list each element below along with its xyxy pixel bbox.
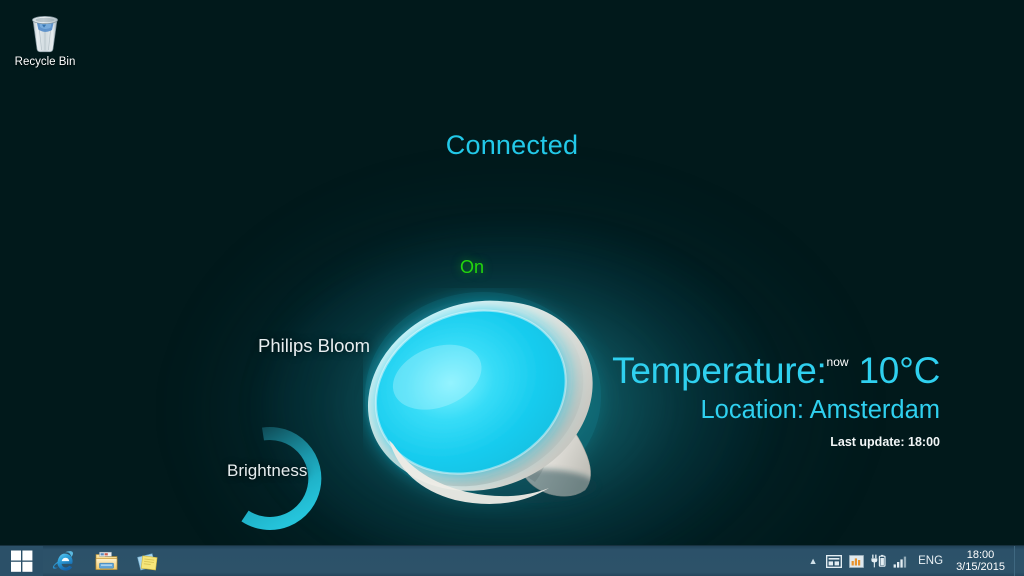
network-signal-glyph-icon xyxy=(893,555,908,568)
file-explorer-icon xyxy=(94,550,119,573)
language-indicator[interactable]: ENG xyxy=(911,546,950,576)
show-hidden-icons-button[interactable]: ▲ xyxy=(803,546,823,576)
action-center-icon[interactable] xyxy=(823,546,845,576)
taskbar: ▲ xyxy=(0,545,1024,576)
temperature-label: Temperature: xyxy=(612,350,826,391)
temperature-value: 10°C xyxy=(859,350,940,391)
sticky-notes-icon xyxy=(136,550,161,573)
desktop-icon-recycle-bin[interactable]: Recycle Bin xyxy=(10,8,80,69)
network-signal-icon[interactable] xyxy=(889,546,911,576)
taskbar-item-internet-explorer[interactable] xyxy=(43,546,85,576)
desktop-wallpaper[interactable]: Recycle Bin Connected On Philips Bloom xyxy=(0,0,1024,545)
taskbar-item-sticky-notes[interactable] xyxy=(127,546,169,576)
show-desktop-button[interactable] xyxy=(1014,546,1021,576)
battery-icon[interactable] xyxy=(867,546,889,576)
system-tray: ▲ xyxy=(803,546,1024,576)
clock-time: 18:00 xyxy=(967,549,995,561)
location-line: Location: Amsterdam xyxy=(612,398,940,424)
recycle-bin-label: Recycle Bin xyxy=(10,56,80,69)
taskbar-item-file-explorer[interactable] xyxy=(85,546,127,576)
taskbar-clock[interactable]: 18:00 3/15/2015 xyxy=(950,546,1014,576)
windows-logo-icon xyxy=(11,550,33,572)
notification-chart-icon[interactable] xyxy=(845,546,867,576)
temperature-line: Temperature:now 10°C xyxy=(612,352,940,389)
brightness-label: Brightness xyxy=(227,461,307,481)
last-update-line: Last update: 18:00 xyxy=(612,436,940,449)
chart-flag-glyph-icon xyxy=(849,555,864,568)
recycle-bin-icon xyxy=(10,8,80,54)
desktop-screen: Recycle Bin Connected On Philips Bloom xyxy=(0,0,1024,576)
action-center-glyph-icon xyxy=(826,555,842,568)
internet-explorer-icon xyxy=(52,549,77,574)
temperature-superscript: now xyxy=(827,355,849,369)
connection-status-text: Connected xyxy=(0,130,1024,161)
power-status-text[interactable]: On xyxy=(0,257,944,278)
weather-info-panel: Temperature:now 10°C Location: Amsterdam… xyxy=(612,352,940,448)
device-name-label: Philips Bloom xyxy=(258,335,370,357)
taskbar-pinned-apps xyxy=(43,546,169,576)
clock-date: 3/15/2015 xyxy=(956,561,1005,573)
battery-glyph-icon xyxy=(871,554,886,568)
start-button[interactable] xyxy=(0,546,43,576)
